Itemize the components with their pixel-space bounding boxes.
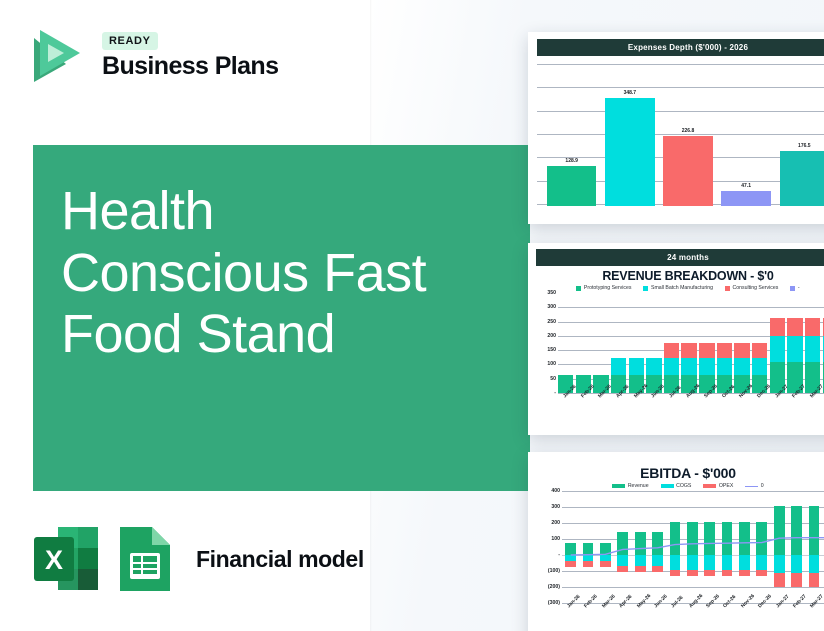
bar-segment [547, 166, 596, 206]
expenses-bars: 128.9348.7226.847.1176.5 [537, 64, 824, 206]
ebitda-legend: RevenueCOGSOPEX0 [536, 483, 824, 489]
bar-segment [774, 573, 785, 588]
bar-value-label: 128.9 [565, 158, 578, 164]
bar-segment [617, 532, 628, 555]
gridline [562, 491, 824, 492]
legend-label: Small Batch Manufacturing [651, 285, 713, 291]
play-triangles-logo-icon [26, 24, 88, 88]
bar-column[interactable] [629, 293, 644, 393]
bar-segment [635, 566, 646, 572]
bar-segment [583, 561, 594, 567]
legend-label: Revenue [628, 483, 649, 489]
ebitda-x-axis-labels: Jan-26Feb-26Mar-26Apr-26May-26Jun-26Jul-… [536, 603, 824, 629]
bar-segment [809, 506, 820, 555]
legend-swatch-icon [725, 286, 730, 291]
legend-swatch-icon [703, 484, 716, 488]
bar-segment [770, 318, 785, 336]
gridline [562, 587, 824, 588]
bar-segment [770, 336, 785, 362]
bar-segment [739, 570, 750, 577]
bar-column[interactable] [611, 293, 626, 393]
revenue-chart-title: REVENUE BREAKDOWN - $'0 [536, 269, 824, 283]
chart-card-expenses[interactable]: Expenses Depth ($'000) - 2026 128.9348.7… [528, 32, 824, 224]
bar-column[interactable] [770, 293, 785, 393]
revenue-legend: Prototyping ServicesSmall Batch Manufact… [536, 285, 824, 291]
legend-label: Prototyping Services [584, 285, 632, 291]
bar-column[interactable]: 176.5 [780, 64, 824, 206]
y-tick-label: 350 [547, 290, 556, 296]
bar-column[interactable]: 128.9 [547, 64, 596, 206]
legend-swatch-icon [661, 484, 674, 488]
bar-segment [699, 358, 714, 375]
bar-segment [611, 358, 626, 375]
legend-item: Small Batch Manufacturing [643, 285, 713, 291]
bar-segment [780, 151, 824, 206]
bar-segment [739, 555, 750, 570]
revenue-y-axis: 35030025020015010050- [536, 293, 558, 393]
bar-segment [687, 522, 698, 555]
y-tick-label: 250 [547, 319, 556, 325]
ebitda-plot-area: 400300200100-(100)(200)(300) [536, 491, 824, 603]
ebitda-chart-title: EBITDA - $'000 [536, 465, 824, 481]
bar-value-label: 348.7 [624, 90, 637, 96]
ebitda-y-axis: 400300200100-(100)(200)(300) [536, 491, 562, 603]
legend-item: Prototyping Services [576, 285, 631, 291]
revenue-plot-area: 35030025020015010050- [536, 293, 824, 393]
y-tick-label: 400 [551, 488, 560, 494]
bar-column[interactable] [787, 293, 802, 393]
bar-value-label: 47.1 [741, 183, 751, 189]
bar-segment [734, 343, 749, 358]
bar-column[interactable] [558, 293, 573, 393]
bar-segment [629, 358, 644, 375]
bar-segment [704, 522, 715, 555]
bar-segment [722, 555, 733, 570]
bar-segment [663, 136, 712, 206]
bar-segment [791, 573, 802, 588]
bar-segment [664, 358, 679, 375]
y-tick-label: 300 [547, 304, 556, 310]
bar-segment [646, 358, 661, 375]
legend-item: - [790, 285, 799, 291]
bar-segment [722, 522, 733, 555]
legend-label: Consulting Services [732, 285, 778, 291]
legend-item: OPEX [703, 483, 733, 489]
bar-segment [787, 336, 802, 362]
y-tick-label: 100 [551, 536, 560, 542]
bar-segment [565, 561, 576, 567]
brand-header: READY Business Plans [26, 24, 278, 88]
revenue-bars [558, 293, 824, 393]
bar-segment [681, 358, 696, 375]
legend-item: COGS [661, 483, 692, 489]
legend-label: OPEX [719, 483, 733, 489]
bar-segment [670, 522, 681, 555]
bar-segment [774, 555, 785, 573]
bar-segment [717, 343, 732, 358]
bar-segment [739, 522, 750, 555]
bar-segment [670, 555, 681, 570]
y-tick-label: 300 [551, 504, 560, 510]
y-tick-label: (200) [548, 584, 560, 590]
legend-swatch-icon [745, 486, 758, 487]
footer-row: X Financial model [32, 524, 364, 594]
bar-segment [756, 522, 767, 555]
bar-segment [717, 358, 732, 375]
bar-value-label: 226.8 [682, 128, 695, 134]
bar-column[interactable] [576, 293, 591, 393]
bar-segment [752, 343, 767, 358]
bar-segment [635, 532, 646, 555]
gridline [562, 507, 824, 508]
bar-segment [734, 358, 749, 375]
legend-swatch-icon [790, 286, 795, 291]
bar-segment [721, 191, 770, 206]
bar-segment [652, 566, 663, 572]
bar-segment [699, 343, 714, 358]
bar-segment [687, 555, 698, 570]
bar-segment [635, 555, 646, 566]
google-sheets-icon [114, 524, 176, 594]
y-tick-label: - [558, 552, 560, 558]
page-title: Health Conscious Fast Food Stand [61, 181, 501, 366]
legend-swatch-icon [643, 286, 648, 291]
legend-label: 0 [761, 483, 764, 489]
footer-label: Financial model [196, 546, 364, 573]
bar-segment [600, 561, 611, 567]
bar-column[interactable] [681, 293, 696, 393]
bar-segment [809, 555, 820, 573]
chart-card-ebitda[interactable]: EBITDA - $'000 RevenueCOGSOPEX0 40030020… [528, 452, 824, 631]
bar-column[interactable] [664, 293, 679, 393]
bar-segment [617, 566, 628, 572]
bar-column[interactable] [646, 293, 661, 393]
bar-segment [664, 343, 679, 358]
revenue-ribbon: 24 months [536, 249, 824, 266]
y-tick-label: 200 [547, 333, 556, 339]
bar-segment [805, 318, 820, 336]
bar-column[interactable] [699, 293, 714, 393]
bar-segment [809, 573, 820, 588]
excel-file-icon: X [32, 524, 100, 594]
bar-segment [617, 555, 628, 566]
legend-swatch-icon [612, 484, 625, 488]
svg-text:X: X [45, 545, 63, 575]
legend-label: - [798, 285, 800, 291]
y-tick-label: 50 [550, 376, 556, 382]
expenses-plot-area: 128.9348.7226.847.1176.5 [537, 64, 824, 206]
bar-column[interactable] [805, 293, 820, 393]
bar-segment [670, 570, 681, 577]
bar-segment [704, 570, 715, 577]
bar-segment [722, 570, 733, 577]
ready-badge: READY [102, 32, 158, 50]
bar-column[interactable]: 226.8 [663, 64, 712, 206]
expenses-chart-title: Expenses Depth ($'000) - 2026 [537, 39, 824, 56]
bar-column[interactable] [752, 293, 767, 393]
bar-segment [687, 570, 698, 577]
y-tick-label: 100 [547, 361, 556, 367]
legend-item: Revenue [612, 483, 648, 489]
bar-column[interactable]: 348.7 [605, 64, 654, 206]
bar-column[interactable] [734, 293, 749, 393]
legend-item: 0 [745, 483, 763, 489]
legend-swatch-icon [576, 286, 581, 291]
bar-segment [652, 555, 663, 566]
brand-name: Business Plans [102, 53, 278, 79]
bar-segment [565, 543, 576, 555]
hero-banner: Health Conscious Fast Food Stand [33, 145, 530, 491]
slide-canvas: READY Business Plans Health Conscious Fa… [0, 0, 824, 631]
bar-segment [600, 543, 611, 555]
y-tick-label: (100) [548, 568, 560, 574]
revenue-x-axis-labels: Jan-26Feb-26Mar-26Apr-26May-26Jun-26Jul-… [536, 393, 824, 419]
bar-segment [583, 543, 594, 555]
bar-segment [756, 570, 767, 577]
chart-card-revenue[interactable]: 24 months REVENUE BREAKDOWN - $'0 Protot… [528, 243, 824, 435]
bar-segment [791, 506, 802, 555]
bar-segment [756, 555, 767, 570]
bar-segment [704, 555, 715, 570]
bar-segment [787, 318, 802, 336]
bar-segment [791, 555, 802, 573]
bar-segment [774, 506, 785, 555]
legend-label: COGS [676, 483, 691, 489]
y-tick-label: 200 [551, 520, 560, 526]
bar-column[interactable] [593, 293, 608, 393]
bar-segment [805, 336, 820, 362]
bar-column[interactable]: 47.1 [721, 64, 770, 206]
bar-column[interactable] [717, 293, 732, 393]
bar-segment [605, 98, 654, 206]
bar-value-label: 176.5 [798, 143, 811, 149]
legend-item: Consulting Services [725, 285, 778, 291]
y-tick-label: 150 [547, 347, 556, 353]
bar-segment [681, 343, 696, 358]
bar-segment [652, 532, 663, 555]
bar-segment [752, 358, 767, 375]
